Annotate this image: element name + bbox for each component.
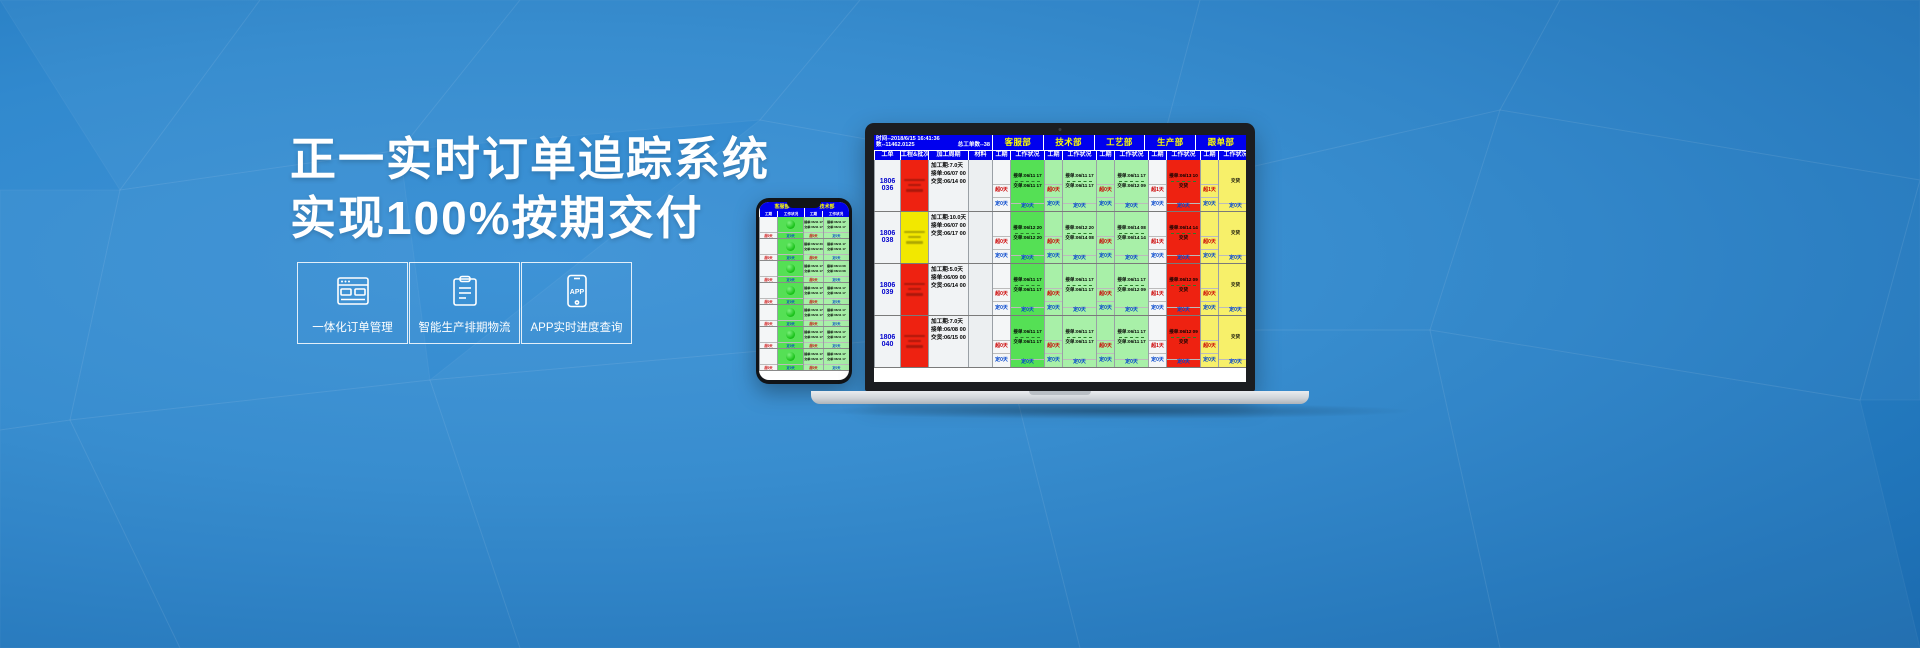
erp-duration-tag: 超0天: [1045, 288, 1062, 301]
clipboard-schedule-icon: [451, 271, 479, 311]
erp-status-note-received: 接单:06/11 17: [1013, 173, 1041, 180]
erp-status-notes: 接单:06/12 09交货: [1169, 277, 1198, 294]
phone-cell-duration: 超0天: [759, 327, 777, 348]
erp-cell-work-order: 1806039: [874, 264, 900, 315]
erp-cell-project: [900, 316, 928, 367]
phone-status-footer: 定0天: [778, 364, 803, 370]
erp-status-notes: 接单:06/11 17交单:06/11 17: [1065, 329, 1093, 346]
phone-table-row[interactable]: 超0天定0天接单:06/11 17交单:06/11 17超0天接单:06/14 …: [759, 261, 849, 283]
erp-status-note-delivered: 交单:06/11 17: [1013, 183, 1041, 190]
erp-cycle-received: 接单:06/08 00: [931, 327, 966, 333]
erp-cell-status: 接单:06/12 20交单:06/12 20定0天: [1010, 212, 1044, 263]
erp-cell-status: 接单:06/11 17交单:06/11 17定0天: [1010, 160, 1044, 211]
erp-status-footer: 定0天: [1011, 255, 1044, 263]
phone-cell-status: 接单:06/11 17交单:06/11 17定0天: [823, 305, 849, 326]
erp-status-note-delivered: 交货: [1169, 339, 1198, 346]
erp-col-work-order: 工单: [874, 151, 900, 160]
svg-text:APP: APP: [569, 289, 584, 296]
erp-duration-tag-secondary: 定0天: [993, 301, 1010, 314]
erp-dashboard: 时间--2018/6/15 16:41:36 数--11462.0125 总工单…: [874, 135, 1246, 368]
phone-status-notes: 接单:06/11 17交单:06/11 17: [804, 286, 823, 295]
erp-cell-project: [900, 212, 928, 263]
erp-cycle-process: 加工期:5.0天: [931, 267, 966, 273]
phone-duration-tag: 超0天: [804, 364, 823, 370]
erp-cell-status: 交货定0天: [1218, 264, 1246, 315]
phone-status-lamp-green: [786, 264, 795, 273]
erp-cell-work-order: 1806040: [874, 316, 900, 367]
phone-notch: [787, 202, 821, 208]
erp-cell-duration: 超0天定0天: [992, 212, 1010, 263]
erp-duration-tag: 超0天: [1097, 288, 1114, 301]
phone-cell-status: 定0天: [777, 349, 803, 370]
erp-status-footer: 定0天: [1167, 255, 1200, 263]
erp-cell-duration: 超1天定0天: [1148, 264, 1166, 315]
headline-block: 正一实时订单追踪系统 实现100%按期交付: [290, 130, 750, 248]
erp-status-note-received: 接单:06/12 09: [1169, 277, 1198, 284]
erp-duration-tag: 超0天: [993, 236, 1010, 249]
phone-table-row[interactable]: 超0天定0天接单:06/11 17交单:06/11 17超0天接单:06/11 …: [759, 217, 849, 239]
phone-status-footer: 定0天: [824, 276, 849, 282]
erp-status-notes: 接单:06/12 09交货: [1169, 329, 1198, 346]
erp-status-note-received: 接单:06/12 20: [1065, 225, 1094, 232]
erp-status-note-received: 交货: [1231, 230, 1240, 237]
erp-status-notes: 交货: [1231, 230, 1240, 237]
phone-status-notes: 接单:06/11 17交单:06/11 17: [804, 352, 823, 361]
erp-cell-project: [900, 160, 928, 211]
phone-status-lamp-green: [786, 308, 795, 317]
phone-status-footer: 定0天: [824, 342, 849, 348]
erp-cell-duration: 超0天定0天: [1044, 316, 1062, 367]
phone-table-body: 超0天定0天接单:06/11 17交单:06/11 17超0天接单:06/11 …: [759, 217, 849, 371]
erp-cell-status: 接单:06/12 09交货定0天: [1166, 316, 1200, 367]
erp-col-duration: 工期: [1148, 151, 1166, 160]
erp-cycle-received: 接单:06/07 00: [931, 171, 966, 177]
erp-cell-status: 接单:06/12 09交货定0天: [1166, 264, 1200, 315]
erp-status-note-received: 接单:06/13 10: [1169, 173, 1198, 180]
phone-duration-tag: 超0天: [760, 232, 777, 238]
erp-dept-header-customer-service: 客服部: [992, 135, 1043, 150]
phone-table-row[interactable]: 超0天定0天接单:06/11 17交单:06/11 17超0天接单:06/11 …: [759, 327, 849, 349]
phone-cell-status: 定0天: [777, 239, 803, 260]
phone-cell-duration: 接单:06/11 17交单:06/11 17超0天: [803, 283, 823, 304]
phone-status-footer: 定0天: [778, 232, 803, 238]
headline-line-1: 正一实时订单追踪系统: [290, 130, 750, 189]
phone-screen[interactable]: 客服部 技术部 工期 工作状况 工期 工作状况 超0天定0天接单:06/11 1…: [759, 202, 849, 380]
erp-cell-status: 接单:06/14 14交货定0天: [1166, 212, 1200, 263]
erp-status-notes: 接单:06/11 17交单:06/12 09: [1117, 173, 1146, 190]
erp-cell-duration: 超0天定0天: [1096, 316, 1114, 367]
erp-status-note-received: 接单:06/11 17: [1013, 277, 1041, 284]
erp-duration-tag: 超0天: [1097, 184, 1114, 197]
erp-status-note-delivered: 交货: [1169, 235, 1198, 242]
erp-cell-duration: 超0天定0天: [1200, 316, 1218, 367]
erp-subheader-row: 工单 工程&批次 加工周期 材料 工期 工作状况 工期 工作状况 工期 工作状况…: [874, 151, 1246, 160]
erp-cell-status: 接单:06/11 17交单:06/11 17定0天: [1062, 160, 1096, 211]
mobile-app-icon: APP: [565, 271, 589, 311]
erp-table-body: 1806036加工期:7.0天接单:06/07 00交货:06/14 00超0天…: [874, 160, 1246, 368]
erp-cycle-delivery: 交货:06/15 00: [931, 335, 966, 341]
erp-status-notes: 接单:06/13 10交货: [1169, 173, 1198, 190]
erp-status-notes: 接单:06/11 17交单:06/11 17: [1013, 173, 1041, 190]
erp-cell-status: 接单:06/11 17交单:06/12 09定0天: [1114, 160, 1148, 211]
erp-cell-material: [968, 316, 992, 367]
erp-duration-tag: 超0天: [1045, 236, 1062, 249]
erp-status-footer: 定0天: [1115, 203, 1148, 211]
phone-status-lamp-green: [786, 330, 795, 339]
phone-status-lamp-green: [786, 352, 795, 361]
erp-cycle-process: 加工期:10.0天: [931, 215, 966, 221]
erp-duration-tag-secondary: 定0天: [1149, 249, 1166, 262]
erp-status-footer: 定0天: [1011, 359, 1044, 367]
erp-duration-tag: 超0天: [1097, 236, 1114, 249]
erp-duration-tag-secondary: 定0天: [1045, 197, 1062, 210]
erp-cell-status: 接单:06/11 17交单:06/11 17定0天: [1010, 264, 1044, 315]
erp-duration-tag-secondary: 定0天: [1045, 301, 1062, 314]
erp-col-status: 工作状况: [1114, 151, 1148, 160]
erp-status-notes: 接单:06/14 08交单:06/14 14: [1117, 225, 1146, 242]
erp-cell-material: [968, 212, 992, 263]
erp-status-note-received: 接单:06/14 08: [1117, 225, 1146, 232]
erp-status-footer: 定0天: [1115, 359, 1148, 367]
erp-duration-tag: 超1天: [1201, 184, 1218, 197]
erp-cell-material: [968, 264, 992, 315]
erp-col-duration: 工期: [1200, 151, 1218, 160]
erp-status-note-received: 接单:06/11 17: [1065, 277, 1093, 284]
erp-status-note-delivered: 交单:06/12 20: [1013, 235, 1042, 242]
headline-line-2: 实现100%按期交付: [290, 189, 750, 248]
erp-cell-duration: 超1天定0天: [1148, 160, 1166, 211]
erp-cell-status: 接单:06/11 17交单:06/11 17定0天: [1010, 316, 1044, 367]
erp-duration-tag: 超0天: [993, 288, 1010, 301]
erp-cell-duration: 超1天定0天: [1200, 160, 1218, 211]
erp-duration-tag-secondary: 定0天: [1149, 353, 1166, 366]
phone-erp-table: 客服部 技术部 工期 工作状况 工期 工作状况 超0天定0天接单:06/11 1…: [759, 202, 849, 371]
erp-status-note-received: 接单:06/12 20: [1013, 225, 1042, 232]
erp-cycle-delivery: 交货:06/14 00: [931, 283, 966, 289]
phone-cell-status: 接单:06/14 08交单:06/14 08定0天: [823, 261, 849, 282]
erp-status-footer: 定0天: [1115, 255, 1148, 263]
promo-banner: 正一实时订单追踪系统 实现100%按期交付 一体化订单管理: [0, 0, 1920, 648]
phone-cell-duration: 超0天: [759, 217, 777, 238]
erp-status-note-received: 交货: [1231, 334, 1240, 341]
phone-status-footer: 定0天: [824, 364, 849, 370]
phone-cell-duration: 超0天: [759, 283, 777, 304]
erp-duration-tag-secondary: 定0天: [1149, 301, 1166, 314]
erp-col-duration: 工期: [1044, 151, 1062, 160]
erp-duration-tag: 超0天: [993, 340, 1010, 353]
erp-status-footer: 定0天: [1063, 307, 1096, 315]
erp-cycle-delivery: 交货:06/14 00: [931, 179, 966, 185]
erp-status-footer: 定0天: [1063, 359, 1096, 367]
erp-status-note-received: 接单:06/11 17: [1013, 329, 1041, 336]
erp-duration-tag-secondary: 定0天: [993, 353, 1010, 366]
phone-status-footer: 定0天: [824, 232, 849, 238]
erp-table-row[interactable]: 1806038加工期:10.0天接单:06/07 00交货:06/17 00超0…: [874, 212, 1246, 264]
erp-status-note-received: 接单:06/11 17: [1117, 173, 1146, 180]
erp-cell-status: 接单:06/11 17交单:06/11 17定0天: [1062, 316, 1096, 367]
phone-status-notes: 接单:06/12 20交单:06/12 20: [804, 242, 823, 251]
phone-status-footer: 定0天: [778, 298, 803, 304]
erp-cycle-process: 加工期:7.0天: [931, 319, 966, 325]
erp-duration-tag-secondary: 定0天: [1097, 353, 1114, 366]
erp-status-footer: 定0天: [1167, 203, 1200, 211]
erp-status-note-delivered: 交货: [1169, 183, 1198, 190]
phone-status-notes: 接单:06/11 17交单:06/11 17: [804, 330, 823, 339]
phone-mockup: 客服部 技术部 工期 工作状况 工期 工作状况 超0天定0天接单:06/11 1…: [756, 198, 852, 384]
phone-status-footer: 定0天: [778, 320, 803, 326]
phone-duration-tag: 超0天: [760, 364, 777, 370]
erp-status-footer: 定0天: [1167, 307, 1200, 315]
erp-status-note-delivered: 交单:06/11 17: [1013, 339, 1041, 346]
phone-cell-duration: 接单:06/11 17交单:06/11 17超0天: [803, 261, 823, 282]
phone-cell-duration: 接单:06/11 17交单:06/11 17超0天: [803, 327, 823, 348]
erp-cell-duration: 超0天定0天: [992, 160, 1010, 211]
phone-cell-status: 定0天: [777, 327, 803, 348]
erp-duration-tag: 超0天: [1097, 340, 1114, 353]
erp-status-note-received: 接单:06/12 09: [1169, 329, 1198, 336]
phone-table-row[interactable]: 超0天定0天接单:06/12 20交单:06/12 20超0天接单:06/11 …: [759, 239, 849, 261]
phone-table-row[interactable]: 超0天定0天接单:06/11 17交单:06/11 17超0天接单:06/11 …: [759, 305, 849, 327]
erp-cell-duration: 超0天定0天: [1200, 212, 1218, 263]
erp-status-note-received: 交货: [1231, 178, 1240, 185]
erp-table-row[interactable]: 1806040加工期:7.0天接单:06/08 00交货:06/15 00超0天…: [874, 316, 1246, 368]
erp-duration-tag: 超0天: [1201, 340, 1218, 353]
erp-status-note-delivered: 交单:06/11 17: [1013, 287, 1041, 294]
erp-cell-status: 接单:06/12 20交单:06/14 08定0天: [1062, 212, 1096, 263]
phone-cell-status: 定0天: [777, 283, 803, 304]
erp-status-notes: 接单:06/12 20交单:06/12 20: [1013, 225, 1042, 242]
erp-status-notes: 交货: [1231, 178, 1240, 185]
erp-cell-status: 交货定0天: [1218, 316, 1246, 367]
erp-duration-tag: 超1天: [1149, 236, 1166, 249]
erp-duration-tag-secondary: 定0天: [1201, 197, 1218, 210]
erp-duration-tag-secondary: 定0天: [1201, 353, 1218, 366]
erp-dept-header-process: 工艺部: [1094, 135, 1145, 150]
erp-table-row[interactable]: 1806036加工期:7.0天接单:06/07 00交货:06/14 00超0天…: [874, 160, 1246, 212]
erp-cell-duration: 超0天定0天: [1044, 212, 1062, 263]
phone-cell-status: 定0天: [777, 217, 803, 238]
phone-status-notes: 接单:06/11 17交单:06/11 17: [804, 264, 823, 273]
erp-status-note-received: 交货: [1231, 282, 1240, 289]
phone-duration-tag: 超0天: [804, 298, 823, 304]
webcam-icon: [1059, 128, 1062, 131]
phone-duration-tag: 超0天: [760, 342, 777, 348]
erp-col-duration: 工期: [992, 151, 1010, 160]
erp-cell-duration: 超0天定0天: [1200, 264, 1218, 315]
erp-status-note-delivered: 交单:06/11 17: [1117, 339, 1145, 346]
erp-status-notes: 交货: [1231, 334, 1240, 341]
phone-status-notes: 接单:06/11 17交单:06/11 17: [827, 352, 846, 361]
erp-cell-project: [900, 264, 928, 315]
erp-cycle-received: 接单:06/09 00: [931, 275, 966, 281]
erp-status-note-delivered: 交单:06/12 09: [1117, 287, 1146, 294]
phone-status-lamp-green: [786, 242, 795, 251]
erp-cell-cycle: 加工期:7.0天接单:06/07 00交货:06/14 00: [928, 160, 968, 211]
erp-col-status: 工作状况: [1218, 151, 1246, 160]
phone-status-notes: 接单:06/11 17交单:06/11 17: [827, 242, 846, 251]
phone-duration-tag: 超0天: [804, 232, 823, 238]
erp-dept-header-merchandising: 跟单部: [1195, 135, 1246, 150]
erp-status-footer: 定0天: [1063, 255, 1096, 263]
erp-duration-tag: 超1天: [1149, 340, 1166, 353]
erp-status-note-received: 接单:06/11 17: [1117, 329, 1145, 336]
erp-status-notes: 接单:06/12 20交单:06/14 08: [1065, 225, 1094, 242]
phone-duration-tag: 超0天: [804, 320, 823, 326]
erp-cell-duration: 超0天定0天: [1096, 264, 1114, 315]
phone-status-notes: 接单:06/11 17交单:06/11 17: [804, 220, 823, 229]
phone-status-lamp-green: [786, 220, 795, 229]
phone-cell-duration: 接单:06/11 17交单:06/11 17超0天: [803, 349, 823, 370]
erp-cell-status: 接单:06/11 17交单:06/11 17定0天: [1062, 264, 1096, 315]
erp-status-footer: 定0天: [1011, 203, 1044, 211]
erp-col-project: 工程&批次: [900, 151, 928, 160]
erp-duration-tag: 超1天: [1149, 184, 1166, 197]
erp-cycle-received: 接单:06/07 00: [931, 223, 966, 229]
phone-cell-status: 接单:06/11 17交单:06/11 17定0天: [823, 349, 849, 370]
erp-col-material: 材料: [968, 151, 992, 160]
erp-cell-cycle: 加工期:7.0天接单:06/08 00交货:06/15 00: [928, 316, 968, 367]
erp-duration-tag: 超0天: [1201, 288, 1218, 301]
phone-table-row[interactable]: 超0天定0天接单:06/11 17交单:06/11 17超0天接单:06/11 …: [759, 349, 849, 371]
phone-status-footer: 定0天: [778, 342, 803, 348]
erp-duration-tag-secondary: 定0天: [1149, 197, 1166, 210]
phone-duration-tag: 超0天: [760, 254, 777, 260]
laptop-shadow: [820, 403, 1410, 419]
erp-status-footer: 定0天: [1219, 307, 1246, 315]
feature-label: 一体化订单管理: [312, 319, 393, 335]
feature-card-app-tracking[interactable]: APP APP实时进度查询: [521, 262, 632, 344]
erp-status-note-received: 接单:06/11 17: [1065, 329, 1093, 336]
erp-status-footer: 定0天: [1115, 307, 1148, 315]
erp-cell-duration: 超0天定0天: [992, 264, 1010, 315]
phone-status-footer: 定0天: [824, 298, 849, 304]
erp-cell-duration: 超0天定0天: [1044, 264, 1062, 315]
erp-status-footer: 定0天: [1219, 203, 1246, 211]
phone-status-lamp-green: [786, 286, 795, 295]
erp-cell-work-order: 1806038: [874, 212, 900, 263]
erp-status-notes: 接单:06/11 17交单:06/11 17: [1065, 173, 1093, 190]
phone-table-row[interactable]: 超0天定0天接单:06/11 17交单:06/11 17超0天接单:06/11 …: [759, 283, 849, 305]
phone-duration-tag: 超0天: [804, 342, 823, 348]
phone-status-notes: 接单:06/11 17交单:06/11 17: [804, 308, 823, 317]
phone-status-notes: 接单:06/11 17交单:06/11 17: [827, 286, 846, 295]
erp-cell-work-order: 1806036: [874, 160, 900, 211]
phone-cell-status: 接单:06/11 17交单:06/11 17定0天: [823, 283, 849, 304]
phone-cell-status: 接单:06/11 17交单:06/11 17定0天: [823, 217, 849, 238]
erp-duration-tag-secondary: 定0天: [993, 197, 1010, 210]
erp-status-notes: 接单:06/11 17交单:06/11 17: [1117, 329, 1145, 346]
erp-status-footer: 定0天: [1063, 203, 1096, 211]
erp-total-orders-label: 总工单数--38: [958, 142, 990, 148]
phone-cell-status: 定0天: [777, 305, 803, 326]
erp-cell-status: 交货定0天: [1218, 212, 1246, 263]
erp-cell-material: [968, 160, 992, 211]
erp-col-status: 工作状况: [1010, 151, 1044, 160]
erp-duration-tag: 超1天: [1149, 288, 1166, 301]
erp-cell-status: 接单:06/11 17交单:06/12 09定0天: [1114, 264, 1148, 315]
erp-duration-tag-secondary: 定0天: [1097, 197, 1114, 210]
erp-cell-duration: 超1天定0天: [1148, 316, 1166, 367]
phone-cell-duration: 超0天: [759, 261, 777, 282]
phone-status-notes: 接单:06/11 17交单:06/11 17: [827, 330, 846, 339]
laptop-screen[interactable]: 时间--2018/6/15 16:41:36 数--11462.0125 总工单…: [874, 135, 1246, 382]
phone-duration-tag: 超0天: [760, 320, 777, 326]
erp-status-notes: 接单:06/14 14交货: [1169, 225, 1198, 242]
erp-duration-tag-secondary: 定0天: [1097, 301, 1114, 314]
erp-col-cycle: 加工周期: [928, 151, 968, 160]
erp-duration-tag-secondary: 定0天: [1201, 249, 1218, 262]
feature-card-order-management[interactable]: 一体化订单管理: [297, 262, 408, 344]
phone-status-notes: 接单:06/14 08交单:06/14 08: [827, 264, 846, 273]
erp-cell-duration: 超0天定0天: [1096, 160, 1114, 211]
phone-status-footer: 定0天: [824, 254, 849, 260]
phone-cell-duration: 超0天: [759, 305, 777, 326]
erp-status-note-received: 接单:06/11 17: [1065, 173, 1093, 180]
erp-cell-status: 接单:06/13 10交货定0天: [1166, 160, 1200, 211]
erp-table-row[interactable]: 1806039加工期:5.0天接单:06/09 00交货:06/14 00超0天…: [874, 264, 1246, 316]
phone-cell-status: 接单:06/11 17交单:06/11 17定0天: [823, 239, 849, 260]
phone-duration-tag: 超0天: [760, 298, 777, 304]
phone-status-notes: 接单:06/11 17交单:06/11 17: [827, 308, 846, 317]
erp-status-notes: 交货: [1231, 282, 1240, 289]
erp-duration-tag: 超0天: [1045, 184, 1062, 197]
erp-cell-status: 交货定0天: [1218, 160, 1246, 211]
erp-status-notes: 接单:06/11 17交单:06/11 17: [1065, 277, 1093, 294]
erp-dept-header-production: 生产部: [1144, 135, 1195, 150]
erp-status-note-received: 接单:06/14 14: [1169, 225, 1198, 232]
laptop-mockup: 时间--2018/6/15 16:41:36 数--11462.0125 总工单…: [865, 123, 1309, 404]
erp-cell-duration: 超1天定0天: [1148, 212, 1166, 263]
erp-header-row: 时间--2018/6/15 16:41:36 数--11462.0125 总工单…: [874, 135, 1246, 151]
erp-dept-header-technology: 技术部: [1043, 135, 1094, 150]
phone-cell-duration: 接单:06/11 17交单:06/11 17超0天: [803, 217, 823, 238]
phone-duration-tag: 超0天: [804, 254, 823, 260]
erp-status-footer: 定0天: [1219, 255, 1246, 263]
erp-cell-status: 接单:06/14 08交单:06/14 14定0天: [1114, 212, 1148, 263]
erp-status-footer: 定0天: [1219, 359, 1246, 367]
erp-col-status: 工作状况: [1166, 151, 1200, 160]
erp-duration-tag-secondary: 定0天: [1045, 353, 1062, 366]
erp-status-notes: 接单:06/11 17交单:06/11 17: [1013, 277, 1041, 294]
laptop-lid: 时间--2018/6/15 16:41:36 数--11462.0125 总工单…: [865, 123, 1255, 391]
erp-status-footer: 定0天: [1167, 359, 1200, 367]
erp-cell-cycle: 加工期:5.0天接单:06/09 00交货:06/14 00: [928, 264, 968, 315]
erp-status-note-delivered: 交单:06/12 09: [1117, 183, 1146, 190]
erp-cell-status: 接单:06/11 17交单:06/11 17定0天: [1114, 316, 1148, 367]
laptop-trackpad-notch: [1029, 391, 1091, 395]
erp-meta: 时间--2018/6/15 16:41:36 数--11462.0125 总工单…: [874, 135, 992, 150]
phone-cell-status: 接单:06/11 17交单:06/11 17定0天: [823, 327, 849, 348]
erp-cell-duration: 超0天定0天: [1044, 160, 1062, 211]
erp-status-note-delivered: 交单:06/11 17: [1065, 183, 1093, 190]
phone-cell-duration: 接单:06/11 17交单:06/11 17超0天: [803, 305, 823, 326]
erp-cell-duration: 超0天定0天: [1096, 212, 1114, 263]
erp-status-note-delivered: 交货: [1169, 287, 1198, 294]
erp-cycle-process: 加工期:7.0天: [931, 163, 966, 169]
phone-status-footer: 定0天: [778, 276, 803, 282]
erp-status-note-delivered: 交单:06/11 17: [1065, 339, 1093, 346]
phone-cell-duration: 超0天: [759, 349, 777, 370]
feature-label: APP实时进度查询: [530, 319, 622, 335]
erp-duration-tag: 超0天: [1045, 340, 1062, 353]
erp-duration-tag: 超0天: [993, 184, 1010, 197]
erp-duration-tag-secondary: 定0天: [1045, 249, 1062, 262]
erp-status-note-delivered: 交单:06/14 14: [1117, 235, 1146, 242]
phone-duration-tag: 超0天: [804, 276, 823, 282]
erp-duration-tag: 超0天: [1201, 236, 1218, 249]
phone-cell-status: 定0天: [777, 261, 803, 282]
feature-card-production-schedule[interactable]: 智能生产排期物流: [409, 262, 520, 344]
